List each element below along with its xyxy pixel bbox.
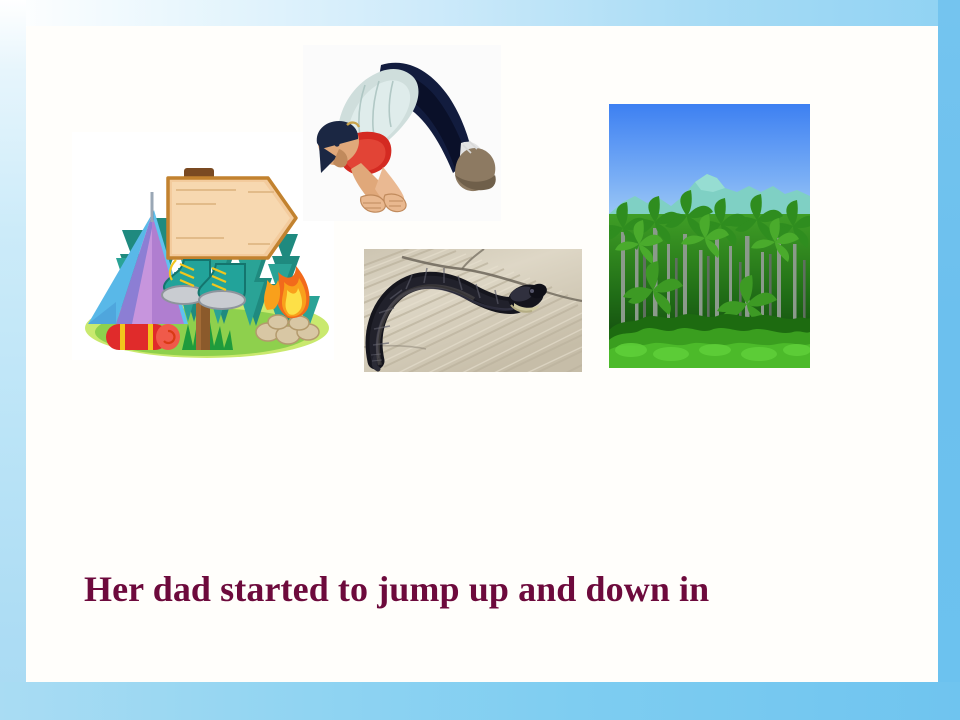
frame-border-right bbox=[938, 0, 960, 720]
person-jumping-illustration bbox=[303, 45, 501, 221]
camping-scene-clipart bbox=[72, 132, 334, 360]
person-jumping-photo bbox=[303, 45, 501, 221]
jungle-forest-illustration bbox=[609, 104, 810, 368]
snake-on-concrete-photo bbox=[364, 249, 582, 372]
frame-border-top bbox=[0, 0, 960, 26]
body-text-line-1: Her dad started to jump up and down in bbox=[84, 556, 884, 622]
forest-clipart bbox=[609, 104, 810, 368]
snake-photo bbox=[364, 249, 582, 372]
slide-body-text: Her dad started to jump up and down in t… bbox=[84, 424, 884, 720]
camping-scene-illustration bbox=[72, 132, 334, 360]
slide-canvas: Her dad started to jump up and down in t… bbox=[0, 0, 960, 720]
frame-border-left bbox=[0, 0, 26, 720]
